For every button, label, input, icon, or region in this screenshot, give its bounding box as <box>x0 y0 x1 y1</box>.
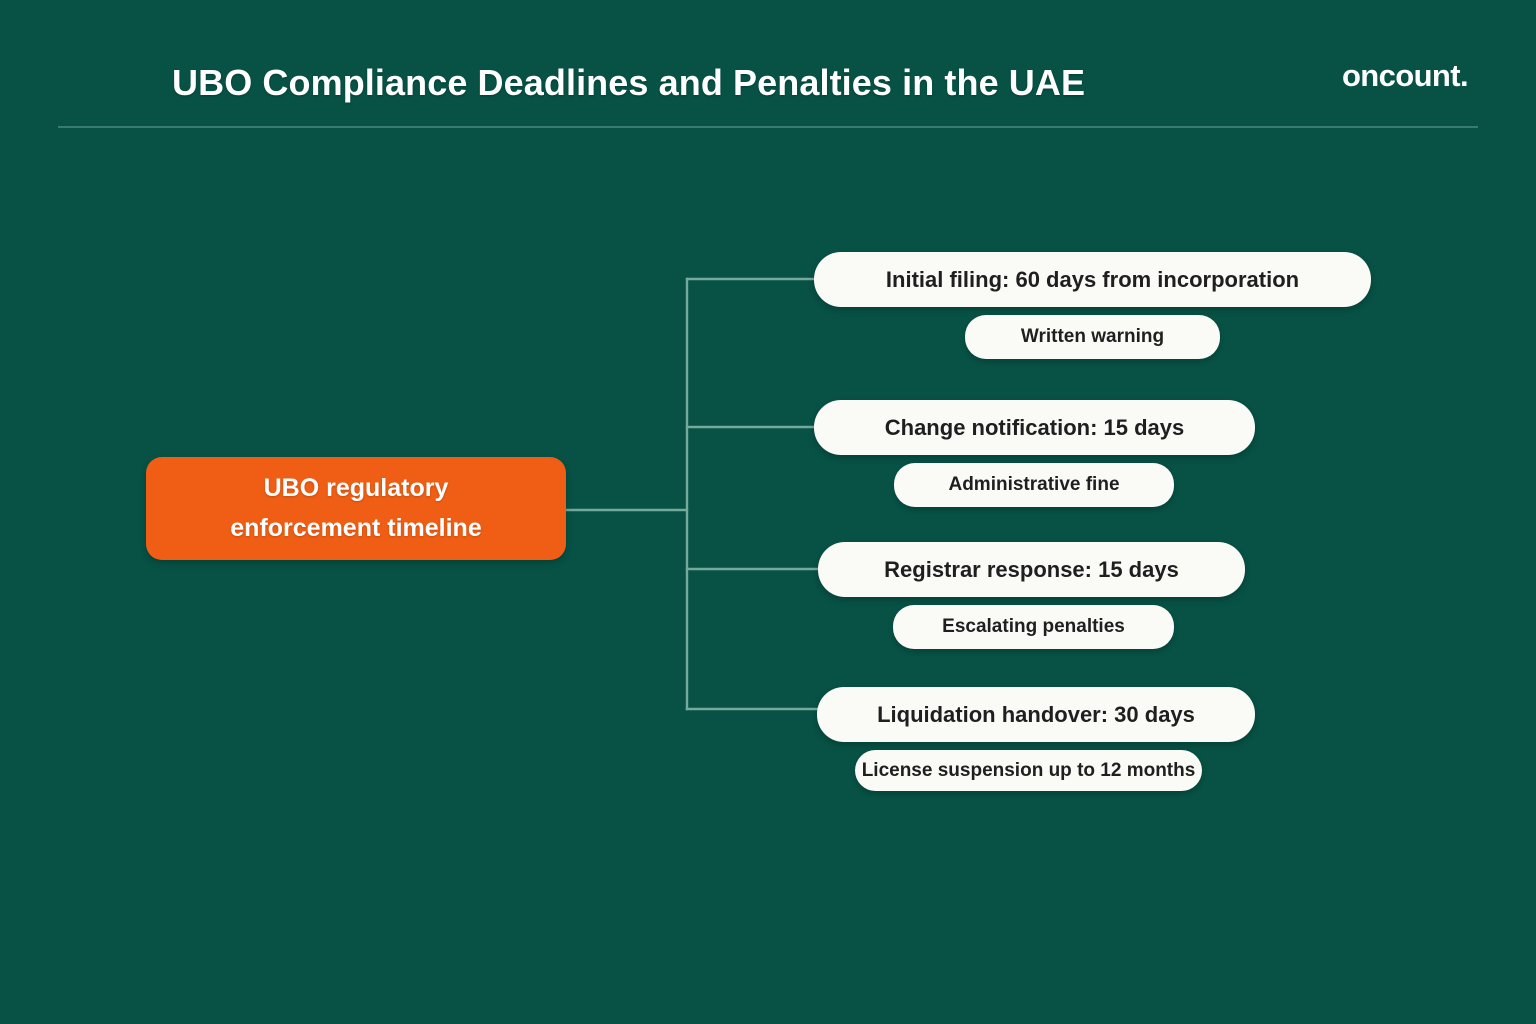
root-node[interactable]: UBO regulatory enforcement timeline <box>146 457 566 560</box>
penalty-card-escalating-penalties[interactable]: Escalating penalties <box>893 605 1174 649</box>
branch-label: Registrar response: 15 days <box>884 557 1179 583</box>
branch-label: Liquidation handover: 30 days <box>877 702 1195 728</box>
branch-label: Change notification: 15 days <box>885 415 1185 441</box>
penalty-card-written-warning[interactable]: Written warning <box>965 315 1220 359</box>
penalty-label: License suspension up to 12 months <box>862 760 1196 782</box>
penalty-label: Escalating penalties <box>942 616 1125 638</box>
penalty-label: Written warning <box>1021 326 1164 348</box>
penalty-card-administrative-fine[interactable]: Administrative fine <box>894 463 1174 507</box>
branch-label: Initial filing: 60 days from incorporati… <box>886 267 1299 293</box>
branch-card-change-notification[interactable]: Change notification: 15 days <box>814 400 1255 455</box>
branch-card-initial-filing[interactable]: Initial filing: 60 days from incorporati… <box>814 252 1371 307</box>
root-node-label: UBO regulatory enforcement timeline <box>230 469 481 548</box>
branch-card-liquidation-handover[interactable]: Liquidation handover: 30 days <box>817 687 1255 742</box>
penalty-label: Administrative fine <box>948 474 1119 496</box>
penalty-card-license-suspension[interactable]: License suspension up to 12 months <box>855 750 1202 791</box>
branch-card-registrar-response[interactable]: Registrar response: 15 days <box>818 542 1245 597</box>
mindmap-diagram: UBO regulatory enforcement timeline Init… <box>0 0 1536 1024</box>
